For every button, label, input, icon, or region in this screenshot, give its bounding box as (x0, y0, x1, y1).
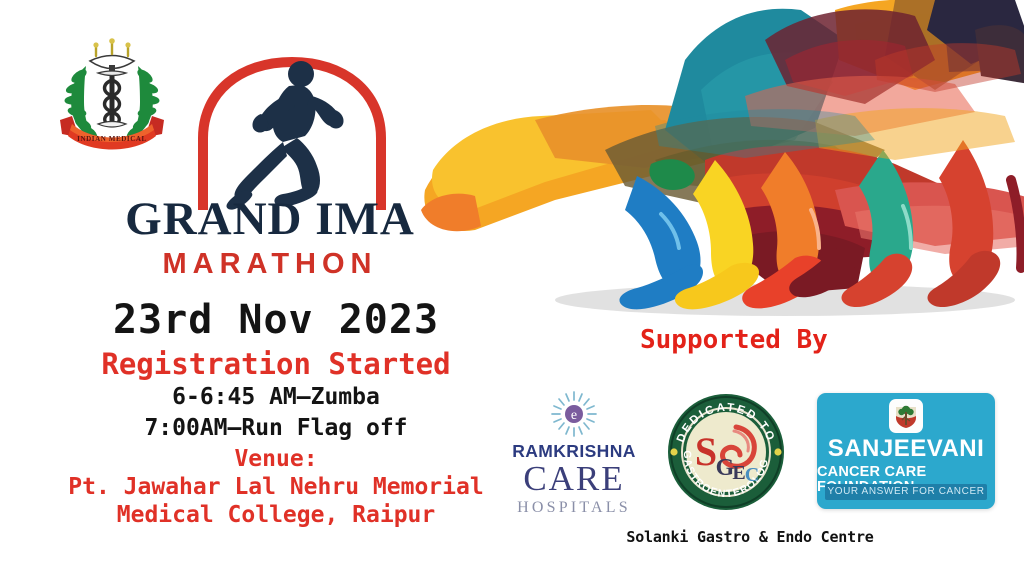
supported-by-label: Supported By (640, 325, 828, 355)
sponsor-sanjeevani[interactable]: SANJEEVANI CANCER CARE FOUNDATION YOUR A… (817, 393, 999, 509)
circular-seal-icon: DEDICATED TO GASTROENTEROLOGY S G E C (662, 391, 790, 513)
venue-line-2: Medical College, Raipur (0, 502, 552, 529)
venue-line-1: Pt. Jawahar Lal Nehru Memorial (0, 474, 552, 501)
zumba-time: 6-6:45 AM—Zumba (0, 384, 552, 411)
sponsor-tagline-hospitals: HOSPITALS (498, 499, 650, 517)
venue-label: Venue: (0, 446, 552, 473)
sanjeevani-title: SANJEEVANI (828, 437, 985, 461)
svg-text:S: S (695, 429, 717, 474)
svg-text:C: C (745, 464, 759, 486)
registration-status: Registration Started (0, 347, 552, 381)
running-legs-illustration (415, 0, 1024, 320)
runner-arch-emblem (185, 52, 400, 212)
tree-shield-icon (889, 399, 923, 433)
svg-text:E: E (732, 462, 745, 484)
sponsor-name-ramkrishna: RAMKRISHNA (498, 442, 650, 460)
solanki-caption: Solanki Gastro & Endo Centre (600, 528, 900, 546)
sanjeevani-card: SANJEEVANI CANCER CARE FOUNDATION YOUR A… (817, 393, 995, 509)
sanjeevani-tagline: YOUR ANSWER FOR CANCER (825, 486, 987, 498)
sponsor-sgec[interactable]: DEDICATED TO GASTROENTEROLOGY S G E C (656, 391, 796, 513)
marathon-poster: INDIAN MEDICAL (0, 0, 1024, 576)
svg-text:INDIAN MEDICAL: INDIAN MEDICAL (77, 135, 147, 143)
run-flagoff-time: 7:00AM—Run Flag off (0, 415, 552, 442)
sponsor-logos: e RAMKRISHNA CARE HOSPITALS (480, 383, 1020, 543)
ima-logo: INDIAN MEDICAL (52, 36, 172, 154)
svg-text:e: e (571, 408, 577, 423)
event-details: 23rd Nov 2023 Registration Started 6-6:4… (0, 297, 552, 529)
sponsor-ramkrishna-care[interactable]: e RAMKRISHNA CARE HOSPITALS (498, 389, 650, 517)
sponsor-word-care: CARE (498, 461, 650, 498)
sanjeevani-tagline-bar: YOUR ANSWER FOR CANCER (825, 484, 987, 500)
sunburst-e-icon: e (546, 389, 602, 439)
